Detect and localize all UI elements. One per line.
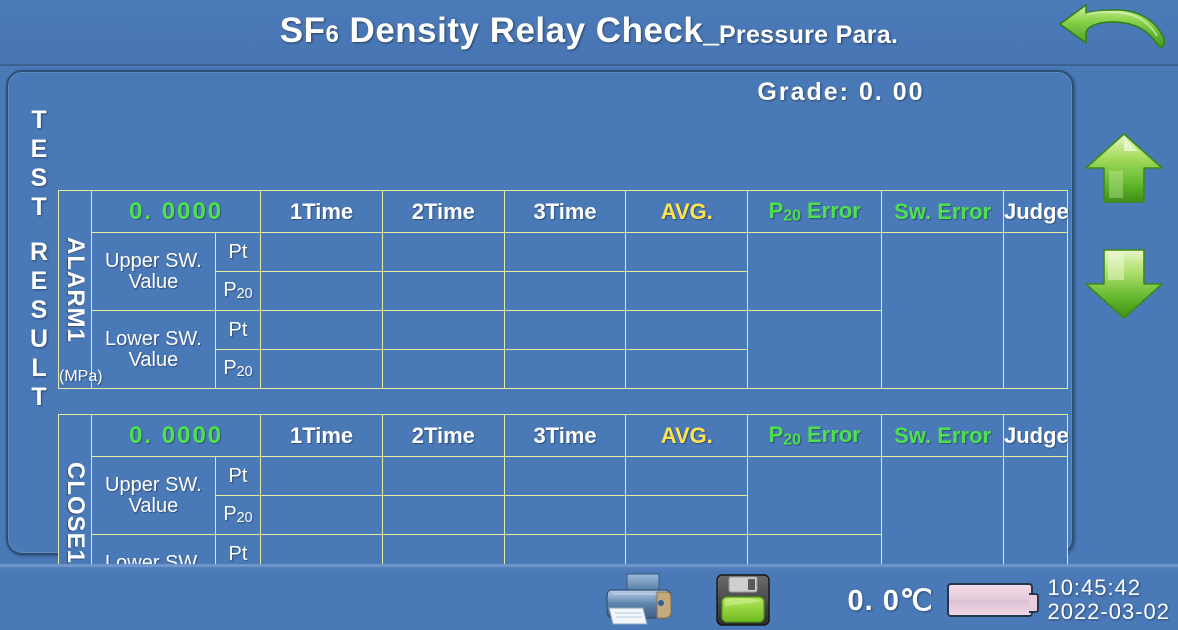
cell-upper-pt-1time[interactable]: [261, 457, 383, 496]
cell-lower-p20-3time[interactable]: [504, 350, 626, 389]
scroll-up-button[interactable]: [1074, 120, 1174, 220]
header-2time: 2Time: [382, 415, 504, 457]
title-main-text: SF6 Density Relay Check: [280, 11, 704, 51]
cell-upper-pt-3time[interactable]: [504, 233, 626, 272]
row-sublabel-p20: P20: [215, 272, 260, 311]
label-test: T E S T: [31, 108, 48, 224]
clock-time: 10:45:42: [1047, 576, 1170, 600]
table-header-row: CLOSE1 (MPa) 0. 0000 1Time 2Time 3Time A…: [59, 415, 1068, 457]
p20-subscript: 20: [783, 207, 801, 224]
clock-date: 2022-03-02: [1047, 600, 1170, 624]
cell-lower-pt-2time[interactable]: [382, 311, 504, 350]
battery-icon: [947, 583, 1033, 617]
test-result-panel: Grade: 0. 00 T E S T R E S U L T: [6, 70, 1074, 555]
app-root: SF6 Density Relay Check_Pressure Para. G…: [0, 0, 1178, 630]
header-3time: 3Time: [504, 415, 626, 457]
table-alarm1: ALARM1 (MPa) 0. 0000 1Time 2Time 3Time A…: [58, 190, 1068, 389]
row-sublabel-pt: Pt: [215, 457, 260, 496]
save-floppy-icon: [714, 573, 772, 627]
title-bar: SF6 Density Relay Check_Pressure Para.: [0, 0, 1178, 66]
cell-lower-p20-1time[interactable]: [261, 350, 383, 389]
save-button[interactable]: [712, 573, 774, 627]
p20-subscript: 20: [783, 431, 801, 448]
row-sublabel-p20: P20: [215, 350, 260, 389]
row-sublabel-pt: Pt: [215, 233, 260, 272]
side-label-rotated: ALARM1: [59, 191, 91, 388]
cell-sw-error[interactable]: [882, 233, 1004, 389]
header-judge: Judge: [1003, 191, 1067, 233]
cell-upper-p20-avg[interactable]: [626, 496, 748, 535]
scroll-down-button[interactable]: [1074, 232, 1174, 332]
title-subscript-6: 6: [325, 21, 339, 48]
table-row: Upper SW. Value Pt: [59, 457, 1068, 496]
cell-upper-p20-avg[interactable]: [626, 272, 748, 311]
cell-upper-pt-1time[interactable]: [261, 233, 383, 272]
p20-subscript: 20: [237, 287, 253, 303]
header-value-zero: 0. 0000: [92, 191, 261, 233]
status-right-group: 0. 0℃ 10:45:42 2022-03-02: [848, 567, 1175, 630]
cell-lower-p20-2time[interactable]: [382, 350, 504, 389]
header-p20-error: P20 Error: [748, 191, 882, 233]
cell-upper-p20-3time[interactable]: [504, 496, 626, 535]
print-button[interactable]: [596, 571, 686, 629]
cell-upper-pt-avg[interactable]: [626, 457, 748, 496]
header-sw-error: Sw. Error: [882, 191, 1004, 233]
p20-subscript: 20: [237, 511, 253, 527]
header-judge: Judge: [1003, 415, 1067, 457]
cell-p20-error-upper[interactable]: [748, 233, 882, 311]
cell-upper-pt-avg[interactable]: [626, 233, 748, 272]
header-2time: 2Time: [382, 191, 504, 233]
header-3time: 3Time: [504, 191, 626, 233]
test-result-vertical-label: T E S T R E S U L T: [20, 108, 58, 538]
cell-upper-p20-2time[interactable]: [382, 272, 504, 311]
cell-judge[interactable]: [1003, 233, 1067, 389]
printer-icon: [599, 572, 683, 628]
header-value-zero: 0. 0000: [92, 415, 261, 457]
cell-upper-pt-2time[interactable]: [382, 233, 504, 272]
title-separator: _: [703, 15, 719, 47]
row-sublabel-pt: Pt: [215, 311, 260, 350]
side-label-unit: (MPa): [59, 368, 91, 386]
row-label-lower-sw: Lower SW. Value: [92, 311, 216, 389]
label-result: R E S U L T: [30, 240, 48, 414]
row-sublabel-p20: P20: [215, 496, 260, 535]
cell-upper-p20-2time[interactable]: [382, 496, 504, 535]
header-sw-error: Sw. Error: [882, 415, 1004, 457]
row-label-upper-sw: Upper SW. Value: [92, 457, 216, 535]
p20-subscript: 20: [237, 365, 253, 381]
temperature-display: 0. 0℃: [848, 583, 934, 618]
cell-upper-p20-1time[interactable]: [261, 496, 383, 535]
header-1time: 1Time: [261, 415, 383, 457]
grade-label: Grade: 0. 00: [626, 78, 1056, 107]
clock-display: 10:45:42 2022-03-02: [1047, 576, 1174, 624]
arrow-up-icon: [1078, 124, 1170, 216]
back-arrow-icon: [1056, 3, 1168, 59]
cell-lower-pt-3time[interactable]: [504, 311, 626, 350]
cell-lower-pt-1time[interactable]: [261, 311, 383, 350]
back-button[interactable]: [1052, 0, 1172, 62]
header-p20-error: P20 Error: [748, 415, 882, 457]
cell-lower-pt-avg[interactable]: [626, 311, 748, 350]
table-side-label-alarm1: ALARM1 (MPa): [59, 191, 92, 389]
cell-lower-p20-avg[interactable]: [626, 350, 748, 389]
table-header-row: ALARM1 (MPa) 0. 0000 1Time 2Time 3Time A…: [59, 191, 1068, 233]
cell-upper-p20-1time[interactable]: [261, 272, 383, 311]
cell-upper-p20-3time[interactable]: [504, 272, 626, 311]
cell-p20-error-upper[interactable]: [748, 457, 882, 535]
row-label-upper-sw: Upper SW. Value: [92, 233, 216, 311]
title-secondary-text: Pressure Para.: [719, 21, 898, 50]
header-1time: 1Time: [261, 191, 383, 233]
status-bar: 0. 0℃ 10:45:42 2022-03-02: [0, 564, 1178, 630]
cell-upper-pt-2time[interactable]: [382, 457, 504, 496]
table-row: Upper SW. Value Pt: [59, 233, 1068, 272]
header-avg: AVG.: [626, 191, 748, 233]
cell-upper-pt-3time[interactable]: [504, 457, 626, 496]
header-avg: AVG.: [626, 415, 748, 457]
cell-p20-error-lower[interactable]: [748, 311, 882, 389]
page-title: SF6 Density Relay Check_Pressure Para.: [0, 0, 1178, 62]
arrow-down-icon: [1078, 236, 1170, 328]
